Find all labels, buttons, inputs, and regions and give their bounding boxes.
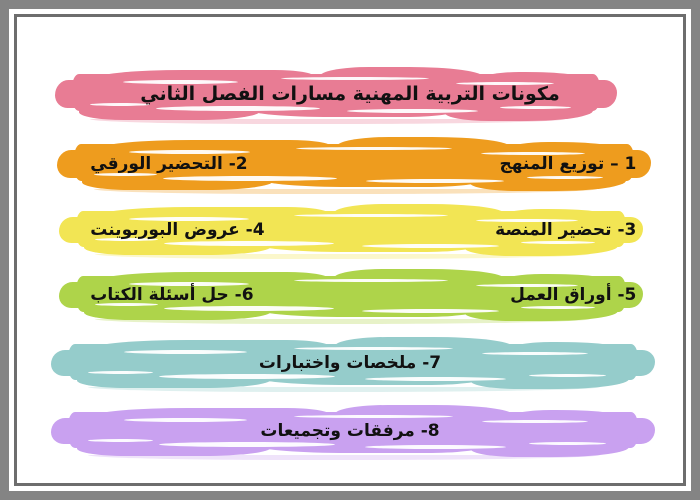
band-row-3: 5- أوراق العمل 6- حل أسئلة الكتاب [17,267,683,323]
brush-stroke-title [63,65,609,123]
band-row-4: 7- ملخصات واختبارات [17,335,683,391]
brush-streak [129,282,248,286]
band-row-2: 3- تحضير المنصة 4- عروض البوربوينت [17,202,683,258]
brush-streak [521,241,595,244]
band-row-1: 1 – توزيع المنهج 2- التحضير الورقي [17,135,683,193]
brush-streak [529,374,605,377]
brush-streak [163,176,336,181]
brush-streak [294,347,453,350]
brush-streak [294,214,447,217]
poster-inner-border: مكونات التربية المهنية مسارات الفصل الثا… [14,14,686,486]
brush-streak [294,415,453,418]
brush-drag-tail [88,387,600,392]
brush-streak [94,173,158,176]
brush-stroke-3 [67,267,635,323]
brush-streak [476,219,578,222]
brush-streak [124,350,247,354]
brush-stroke-5 [59,403,647,459]
brush-streak [294,279,447,282]
brush-drag-tail [94,189,597,194]
brush-streak [482,420,588,423]
brush-streak [527,176,602,179]
brush-streak [482,352,588,355]
brush-streak [529,442,605,445]
brush-drag-tail [88,455,600,460]
poster-canvas: مكونات التربية المهنية مسارات الفصل الثا… [17,17,683,483]
brush-streak [476,284,578,287]
poster-frame: مكونات التربية المهنية مسارات الفصل الثا… [0,0,700,500]
brush-streak [156,106,320,111]
brush-streak [124,418,247,422]
brush-streak [90,103,150,106]
brush-drag-tail [95,319,589,324]
brush-stroke-1 [65,135,643,193]
brush-drag-tail [95,254,589,259]
brush-streak [500,106,571,109]
brush-streak [521,306,595,309]
title-band-row: مكونات التربية المهنية مسارات الفصل الثا… [17,65,683,123]
brush-streak [129,217,248,221]
brush-stroke-2 [67,202,635,258]
brush-drag-tail [90,119,565,124]
brush-stroke-4 [59,335,647,391]
band-row-5: 8- مرفقات وتجميعات [17,403,683,459]
